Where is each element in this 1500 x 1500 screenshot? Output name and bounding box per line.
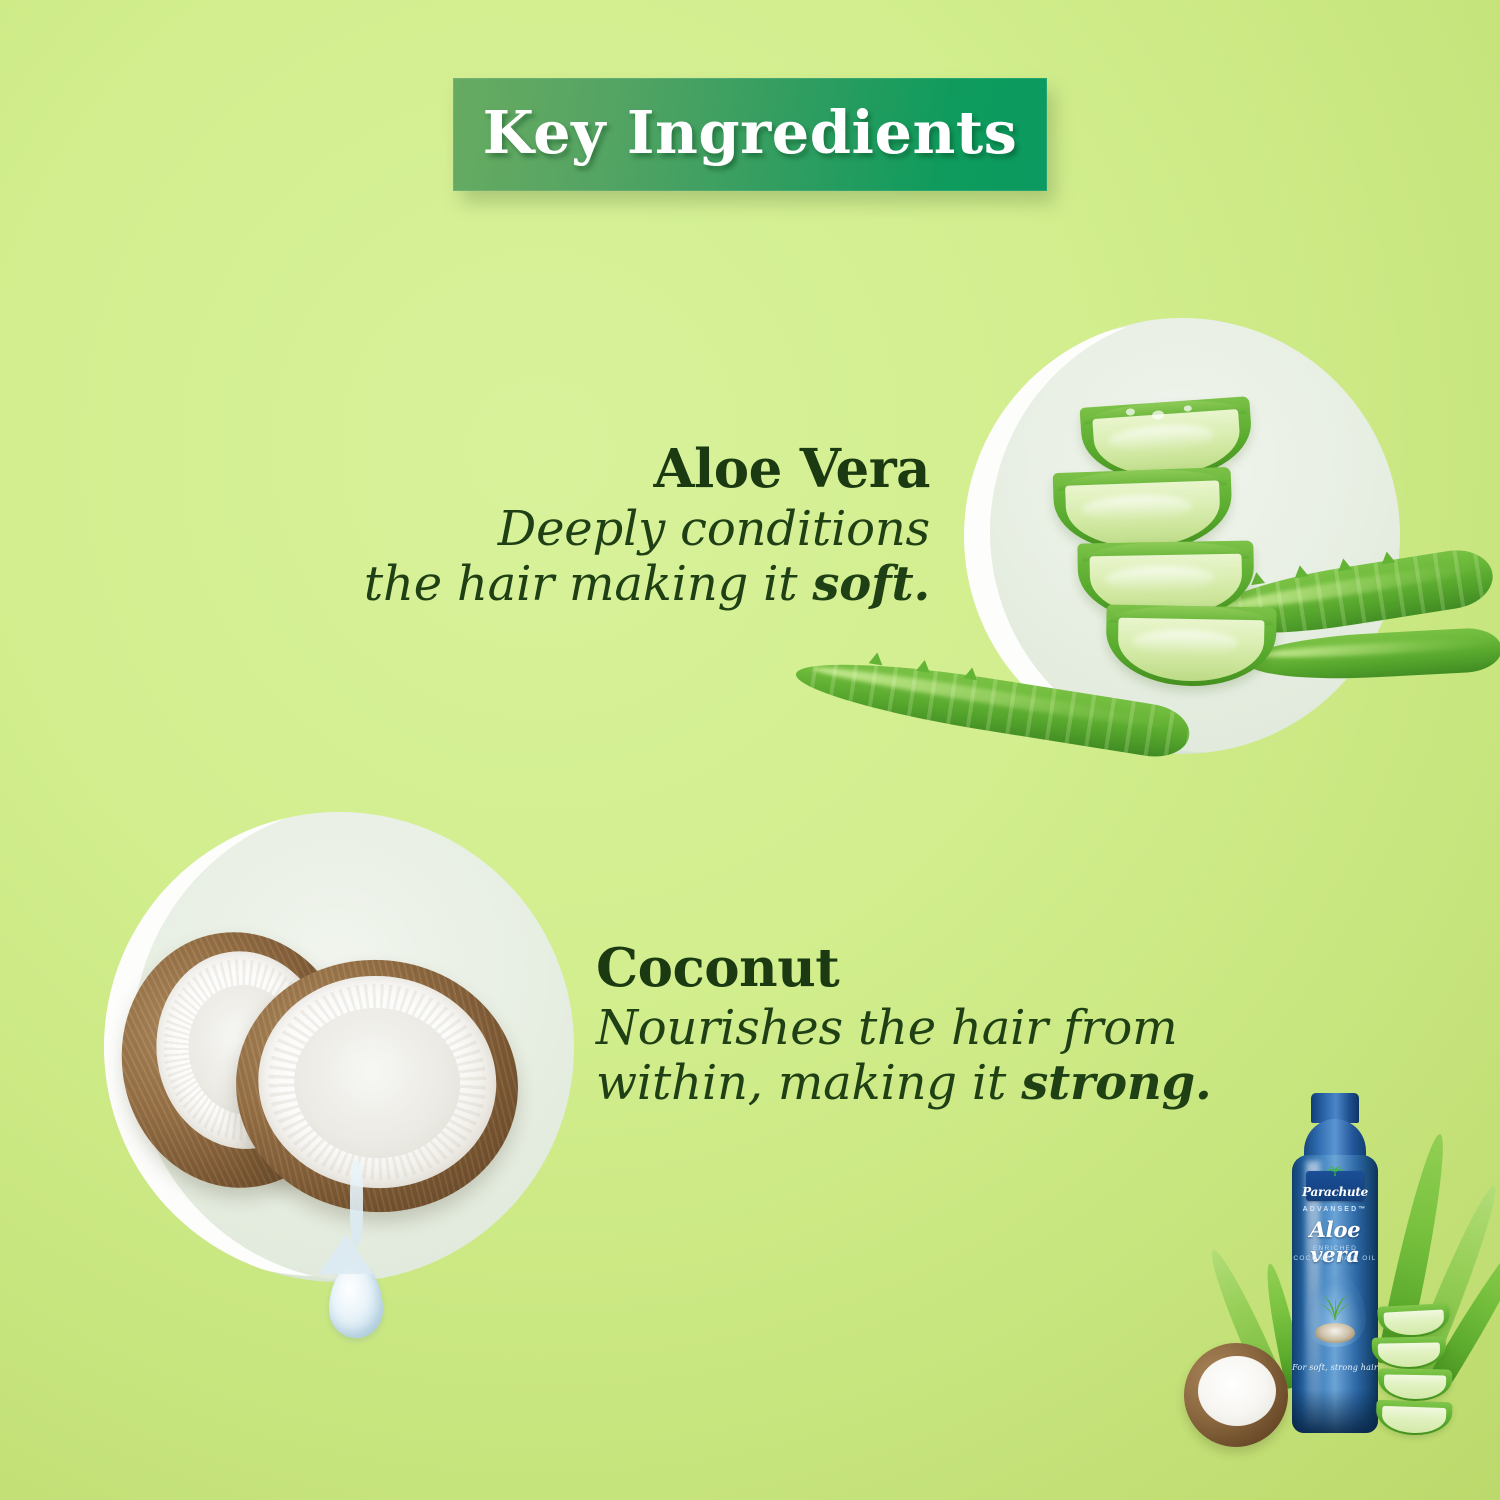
product-coconut-half (1184, 1343, 1288, 1447)
page-title: Key Ingredients (483, 98, 1018, 167)
coconut-half-front (228, 950, 527, 1221)
ingredient-description-aloe-vera: Deeply conditions the hair making it sof… (140, 502, 930, 611)
product-slice-body (1372, 1336, 1447, 1369)
aloe-vera-illustration (946, 318, 1500, 778)
product-shot: Parachute ADVANSED™ Aloe vera ENRICHED C… (1180, 1075, 1500, 1500)
product-slice-body (1377, 1303, 1451, 1339)
aloe-leaf-thorn (1336, 557, 1352, 571)
product-aloe-slice (1372, 1336, 1447, 1369)
coconut-desc-line1: Nourishes the hair from (596, 1000, 1177, 1056)
product-aloe-slice (1375, 1400, 1452, 1437)
product-slice-gel (1384, 1374, 1447, 1399)
sub-brand-label: ADVANSED™ (1292, 1206, 1378, 1213)
label-artwork (1304, 1275, 1366, 1347)
aloe-desc-line1: Deeply conditions (498, 501, 930, 557)
ingredient-title-coconut: Coconut (596, 942, 1356, 995)
aloe-slice-gel (1117, 618, 1264, 683)
product-descriptor: ENRICHED COCONUT HAIR OIL (1292, 1244, 1378, 1264)
aloe-vera-text-block: Aloe Vera Deeply conditions the hair mak… (140, 443, 930, 611)
brand-name: Parachute (1302, 1186, 1368, 1201)
product-aloe-slice (1378, 1368, 1453, 1401)
product-slice-body (1378, 1368, 1453, 1401)
aloe-slice (1105, 605, 1276, 688)
ingredient-title-aloe-vera: Aloe Vera (140, 443, 930, 496)
banner-box: Key Ingredients (453, 78, 1047, 191)
product-slice-gel (1378, 1342, 1441, 1367)
key-ingredients-banner: Key Ingredients (453, 78, 1047, 191)
product-coconut-flesh (1198, 1356, 1276, 1426)
product-slice-gel (1383, 1309, 1445, 1336)
product-aloe-slice (1377, 1303, 1451, 1339)
infographic-canvas: Key Ingredients (0, 0, 1500, 1500)
trademark-symbol: ™ (1358, 1206, 1367, 1213)
aloe-leaf-highlight (1256, 637, 1492, 661)
brand-badge: Parachute (1306, 1171, 1364, 1201)
product-bottle: Parachute ADVANSED™ Aloe vera ENRICHED C… (1288, 1093, 1382, 1433)
aloe-leaf-thorn (1380, 550, 1396, 564)
aloe-slice-gel (1066, 480, 1221, 549)
aloe-leaf-thorn (916, 659, 932, 673)
sub-brand-text: ADVANSED (1303, 1206, 1359, 1213)
aloe-desc-emphasis: soft. (812, 556, 930, 612)
label-coconut-icon (1315, 1323, 1355, 1343)
aloe-leaf-thorn (963, 666, 979, 680)
descriptor-line1: ENRICHED (1313, 1245, 1357, 1252)
descriptor-line2: COCONUT HAIR OIL (1293, 1255, 1376, 1262)
aloe-leaf-thorn (1293, 564, 1309, 578)
aloe-leaf-thorn (869, 651, 885, 665)
label-aloe-plant-icon (1313, 1279, 1357, 1323)
product-slice-body (1375, 1400, 1452, 1437)
palm-tree-icon (1324, 1166, 1346, 1184)
product-tagline: For soft, strong hair (1292, 1363, 1378, 1372)
coconut-desc-line2-prefix: within, making it (596, 1055, 1021, 1111)
bottle-body: Parachute ADVANSED™ Aloe vera ENRICHED C… (1292, 1155, 1378, 1433)
product-slice-gel (1382, 1406, 1447, 1434)
aloe-slice-body (1105, 605, 1276, 688)
bottle-base-shading (1292, 1389, 1378, 1433)
aloe-desc-line2-prefix: the hair making it (364, 556, 813, 612)
coconut-illustration (104, 812, 624, 1372)
